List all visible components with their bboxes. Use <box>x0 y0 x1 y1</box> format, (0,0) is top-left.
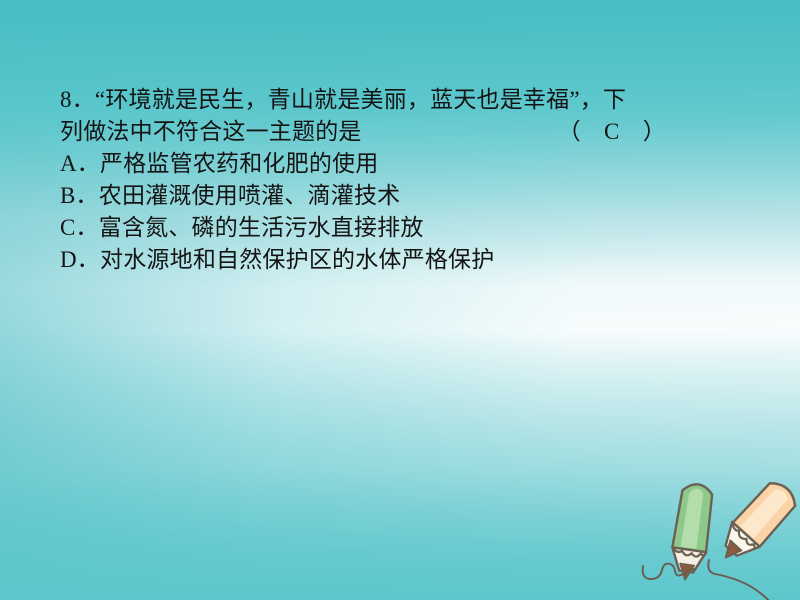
option-b-letter: B． <box>60 183 99 208</box>
question-stem-line-2: 列做法中不符合这一主题的是 （ C ） <box>60 116 760 148</box>
option-d-text: 对水源地和自然保护区的水体严格保护 <box>100 247 494 272</box>
option-a-letter: A． <box>60 151 100 176</box>
option-a[interactable]: A．严格监管农药和化肥的使用 <box>60 148 760 180</box>
orange-pencil-icon <box>711 476 800 569</box>
option-c-text: 富含氮、磷的生活污水直接排放 <box>99 215 424 240</box>
option-a-text: 严格监管农药和化肥的使用 <box>100 151 378 176</box>
question-stem-line-1: 8．“环境就是民生，青山就是美丽，蓝天也是幸福”，下 <box>60 84 760 116</box>
question-block: 8．“环境就是民生，青山就是美丽，蓝天也是幸福”，下 列做法中不符合这一主题的是… <box>60 84 760 276</box>
option-c[interactable]: C．富含氮、磷的生活污水直接排放 <box>60 212 760 244</box>
orange-pencil-scribble <box>708 560 778 600</box>
question-stem-text-2: 列做法中不符合这一主题的是 <box>60 116 362 148</box>
option-c-letter: C． <box>60 215 99 240</box>
question-number: 8． <box>60 87 95 112</box>
question-stem-text-1: “环境就是民生，青山就是美丽，蓝天也是幸福”，下 <box>95 87 626 112</box>
answer-bracket: （ C ） <box>558 116 666 148</box>
option-d[interactable]: D．对水源地和自然保护区的水体严格保护 <box>60 244 760 276</box>
slide-canvas: 8．“环境就是民生，青山就是美丽，蓝天也是幸福”，下 列做法中不符合这一主题的是… <box>0 0 800 600</box>
option-d-letter: D． <box>60 247 100 272</box>
option-b-text: 农田灌溉使用喷灌、滴灌技术 <box>99 183 401 208</box>
pencil-decoration <box>630 470 800 600</box>
option-b[interactable]: B．农田灌溉使用喷灌、滴灌技术 <box>60 180 760 212</box>
